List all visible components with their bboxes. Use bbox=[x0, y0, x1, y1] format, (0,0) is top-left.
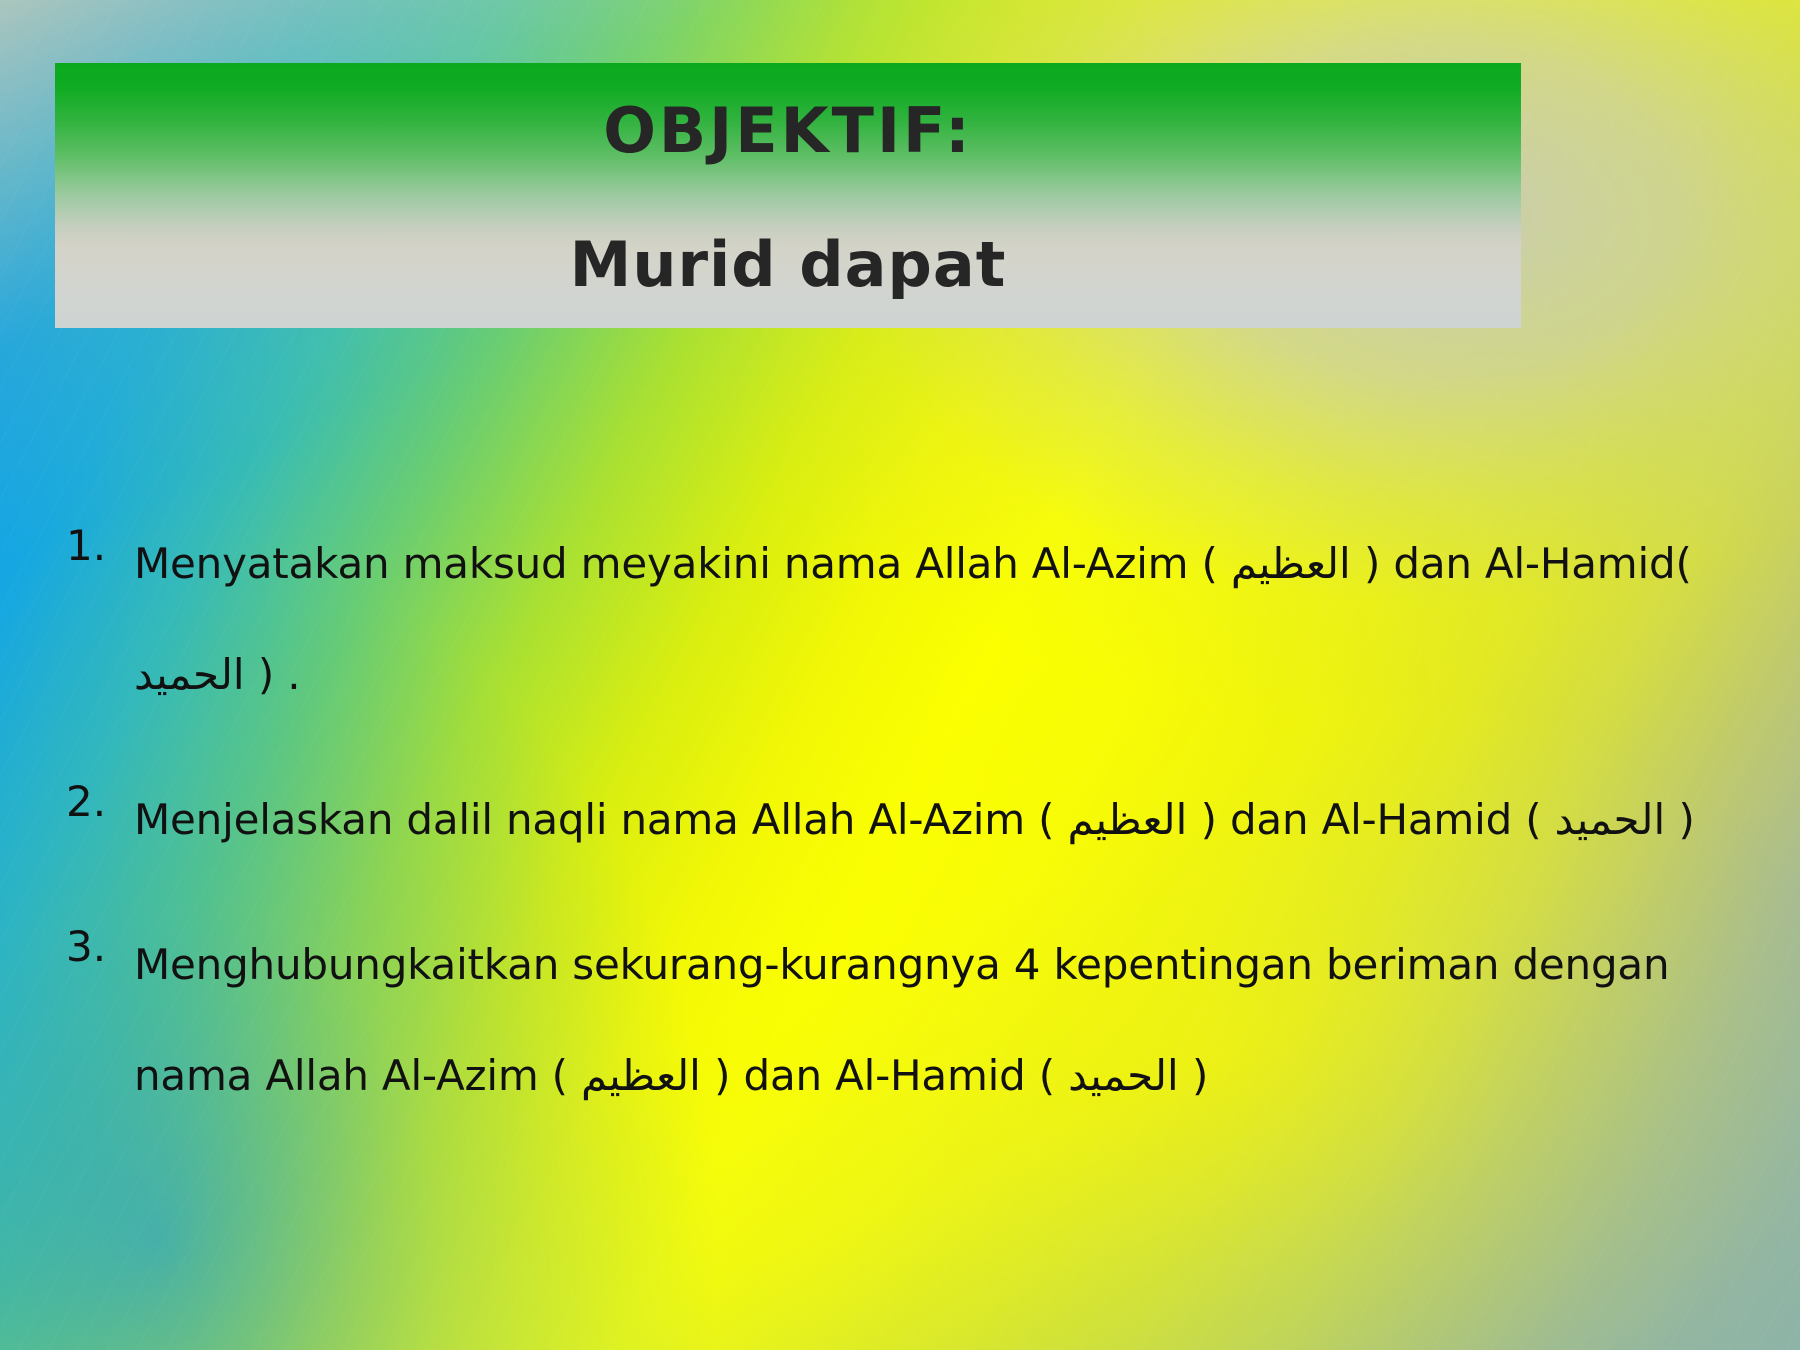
list-item-number: 2. bbox=[66, 764, 134, 840]
latin-text: ) bbox=[1179, 1051, 1209, 1100]
list-item-text: Menghubungkaitkan sekurang-kurangnya 4 k… bbox=[134, 909, 1746, 1131]
list-item[interactable]: 3. Menghubungkaitkan sekurang-kurangnya … bbox=[66, 909, 1746, 1131]
latin-text: ) dan Al-Hamid ( bbox=[701, 1051, 1068, 1100]
latin-text: ) . bbox=[245, 650, 301, 699]
list-item-number: 1. bbox=[66, 508, 134, 584]
latin-text: ) dan Al-Hamid( bbox=[1351, 539, 1692, 588]
slide-canvas: OBJEKTIF: Murid dapat 1. Menyatakan maks… bbox=[0, 0, 1800, 1350]
arabic-term: الحميد bbox=[1555, 795, 1666, 844]
arabic-term: الحميد bbox=[1068, 1051, 1179, 1100]
list-item[interactable]: 2. Menjelaskan dalil naqli nama Allah Al… bbox=[66, 764, 1746, 875]
arabic-term: العظيم bbox=[1067, 795, 1187, 844]
list-item[interactable]: 1. Menyatakan maksud meyakini nama Allah… bbox=[66, 508, 1746, 730]
list-item-number: 3. bbox=[66, 909, 134, 985]
list-item-text: Menjelaskan dalil naqli nama Allah Al-Az… bbox=[134, 764, 1746, 875]
latin-text: Menjelaskan dalil naqli nama Allah Al-Az… bbox=[134, 795, 1067, 844]
list-item-text: Menyatakan maksud meyakini nama Allah Al… bbox=[134, 508, 1746, 730]
latin-text: ) dan Al-Hamid ( bbox=[1187, 795, 1554, 844]
title-placeholder[interactable]: OBJEKTIF: Murid dapat bbox=[55, 63, 1521, 328]
arabic-term: العظيم bbox=[1231, 539, 1351, 588]
slide-title-secondary: Murid dapat bbox=[55, 219, 1521, 311]
objectives-list: 1. Menyatakan maksud meyakini nama Allah… bbox=[66, 508, 1746, 1165]
slide-title-primary: OBJEKTIF: bbox=[55, 87, 1521, 175]
arabic-term: الحميد bbox=[134, 650, 245, 699]
arabic-term: العظيم bbox=[581, 1051, 701, 1100]
latin-text: ) bbox=[1665, 795, 1695, 844]
latin-text: Menyatakan maksud meyakini nama Allah Al… bbox=[134, 539, 1231, 588]
